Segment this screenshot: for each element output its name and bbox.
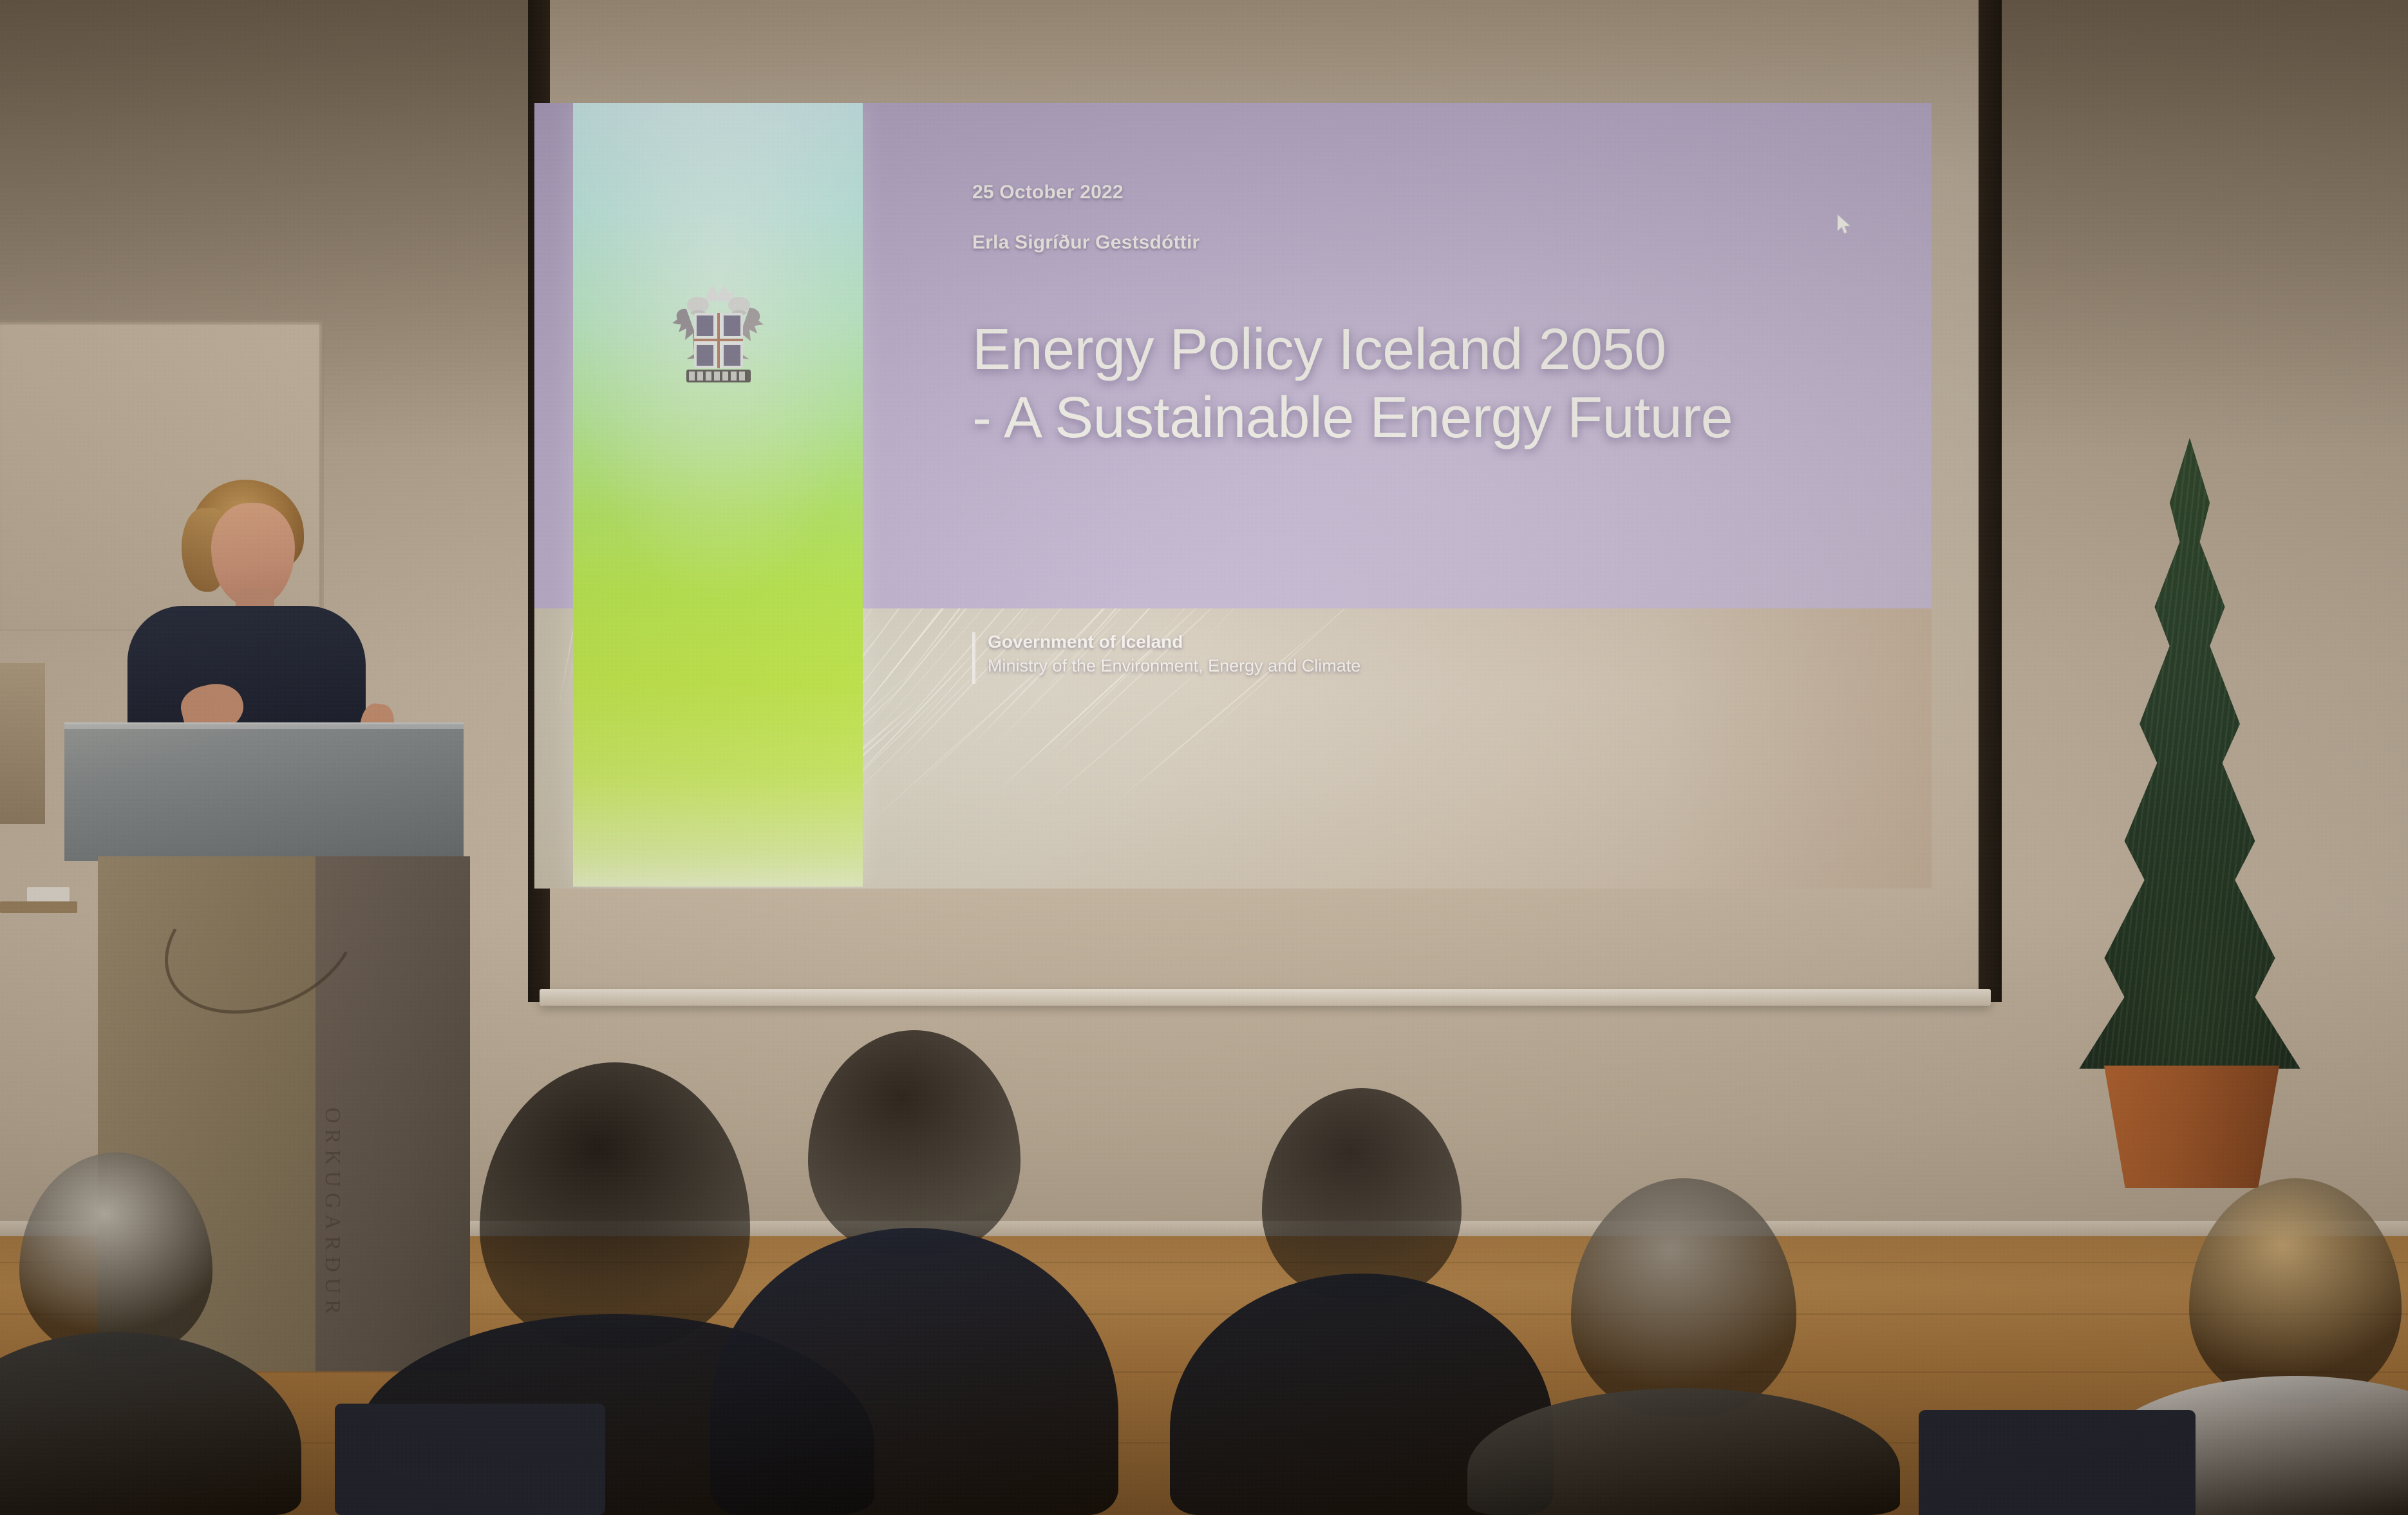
wall-left-panel-edge <box>0 320 322 325</box>
slide-author: Erla Sigríður Gestsdóttir <box>972 232 1199 254</box>
attribution-rule <box>972 632 975 684</box>
slide-attribution: Government of Iceland Ministry of the En… <box>972 630 1360 677</box>
terracotta-pot <box>2104 1066 2279 1188</box>
shelf-paper <box>27 887 70 901</box>
iceland-coat-of-arms-icon <box>667 282 770 391</box>
potted-conifer <box>2054 438 2324 1185</box>
audience-chair-back <box>1919 1410 2196 1515</box>
slide-title: Energy Policy Iceland 2050 - A Sustainab… <box>972 315 1874 452</box>
slide-title-line-1: Energy Policy Iceland 2050 <box>972 315 1874 384</box>
lectern-desk-edge <box>64 722 464 729</box>
presentation-photo-scene: 25 October 2022 Erla Sigríður Gestsdótti… <box>0 0 2408 1515</box>
slide-accent-panel <box>573 103 863 887</box>
attribution-organization: Government of Iceland <box>988 630 1360 654</box>
slide-title-line-2: - A Sustainable Energy Future <box>972 384 1874 452</box>
attribution-ministry: Ministry of the Environment, Energy and … <box>988 654 1360 677</box>
slide-date: 25 October 2022 <box>972 182 1124 203</box>
lectern-desk <box>64 722 464 861</box>
panel-sheen <box>573 103 863 887</box>
screen-weight-bar <box>540 989 1991 1006</box>
mouse-cursor-icon <box>1836 214 1853 237</box>
lectern-venue-label: ORKUGARÐUR <box>306 1107 344 1365</box>
screen-border-right <box>1979 0 2002 1002</box>
wall-bench <box>0 663 45 824</box>
slide-text-column: 25 October 2022 Erla Sigríður Gestsdótti… <box>972 103 1893 887</box>
conifer-texture <box>2064 438 2315 1088</box>
projected-slide: 25 October 2022 Erla Sigríður Gestsdótti… <box>534 103 1932 889</box>
audience-chair-back <box>335 1404 605 1515</box>
wall-shelf <box>0 901 77 913</box>
